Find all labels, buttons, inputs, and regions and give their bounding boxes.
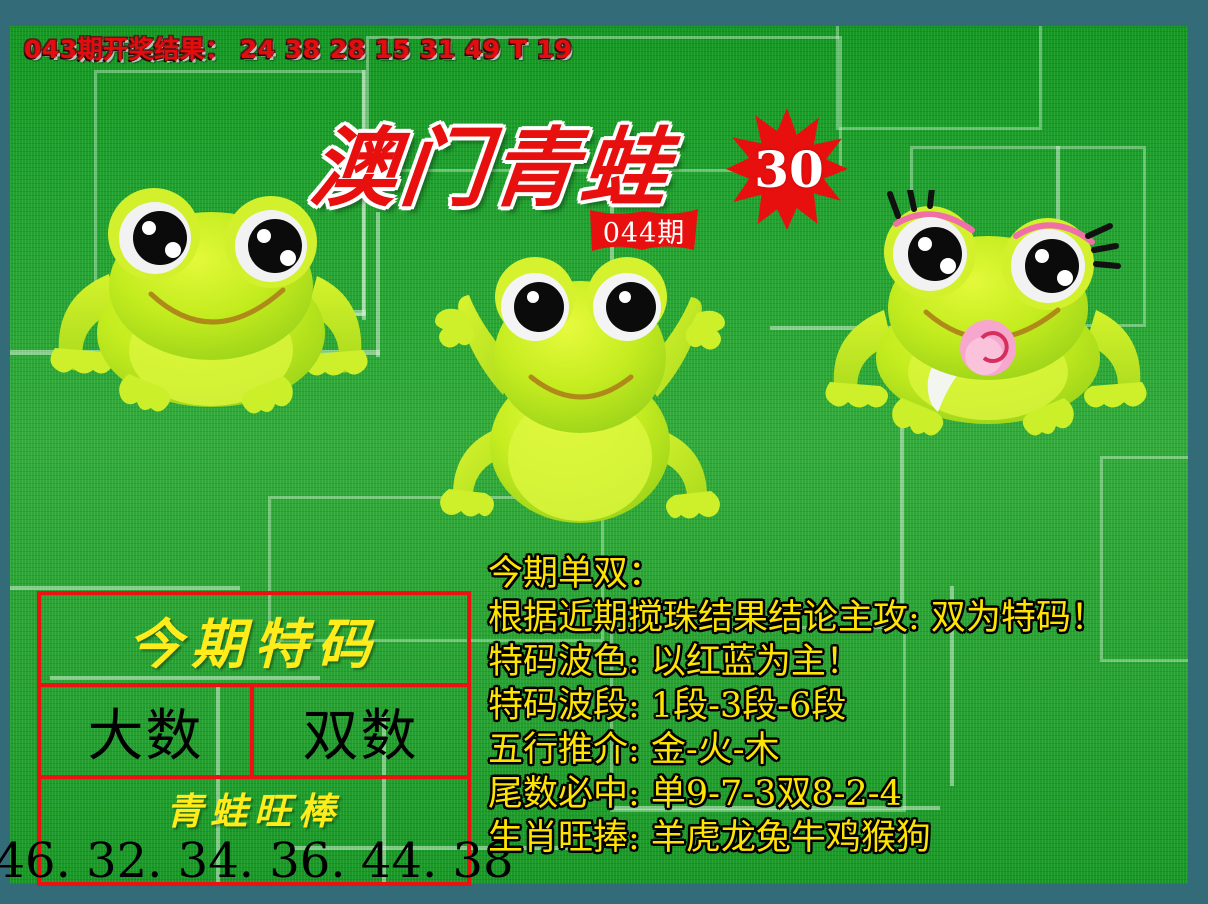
special-code-table: 今期特码 大数 双数 青蛙旺棒 46. 32. 34. 36. 44. 38	[37, 591, 471, 886]
table-heading-row: 今期特码	[41, 595, 467, 687]
info-line: 尾数必中: 单9-7-3双8-2-4	[488, 772, 1188, 816]
info-line: 生肖旺捧: 羊虎龙兔牛鸡猴狗	[488, 816, 1188, 860]
bg-rect	[836, 26, 1042, 130]
bg-line	[10, 586, 240, 590]
info-line: 根据近期搅珠结果结论主攻: 双为特码！	[488, 596, 1188, 640]
frog-middle	[425, 245, 735, 539]
issue-label: 044期	[586, 206, 702, 254]
info-line: 特码波色: 以红蓝为主！	[488, 640, 1188, 684]
starburst-number: 30	[722, 108, 852, 230]
info-line: 今期单双：	[488, 552, 1188, 596]
table-cell-parity: 双数	[254, 687, 467, 775]
table-cell-size: 大数	[41, 687, 254, 775]
table-value-row: 大数 双数	[41, 687, 467, 779]
prediction-info-block: 今期单双： 根据近期搅珠结果结论主攻: 双为特码！ 特码波色: 以红蓝为主！ 特…	[488, 552, 1188, 860]
page-title: 澳门青蛙	[305, 98, 678, 223]
table-sub-heading: 青蛙旺棒	[166, 781, 342, 835]
lottery-result-header: 043期开奖结果： 24 38 28 15 31 49 T 19	[24, 30, 572, 66]
poster-root: 043期开奖结果： 24 38 28 15 31 49 T 19 澳门青蛙 30…	[0, 0, 1208, 904]
bg-line	[376, 212, 380, 357]
info-line: 特码波段: 1段-3段-6段	[488, 684, 1188, 728]
starburst-badge: 30	[722, 108, 852, 230]
frog-right	[822, 190, 1152, 444]
table-numbers-row: 青蛙旺棒 46. 32. 34. 36. 44. 38	[41, 779, 467, 886]
recommended-numbers: 46. 32. 34. 36. 44. 38	[0, 833, 514, 889]
issue-banner: 044期	[586, 206, 702, 254]
table-heading: 今期特码	[128, 600, 380, 679]
info-line: 五行推介: 金-火-木	[488, 728, 1188, 772]
